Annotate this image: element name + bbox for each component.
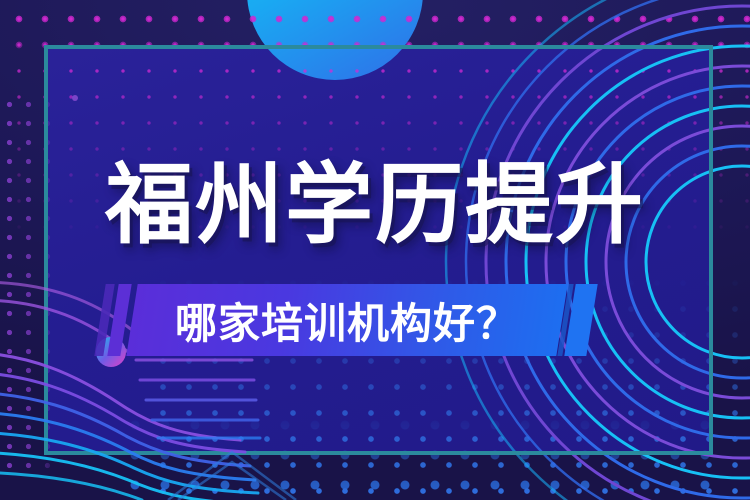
accent-dot-purple bbox=[72, 95, 78, 101]
promo-banner: 福州学历提升 哪家培训机构好？ bbox=[0, 0, 750, 500]
banner-title: 福州学历提升 bbox=[105, 161, 645, 249]
title-container: 福州学历提升 bbox=[0, 150, 750, 260]
banner-subtitle: 哪家培训机构好？ bbox=[132, 284, 562, 356]
